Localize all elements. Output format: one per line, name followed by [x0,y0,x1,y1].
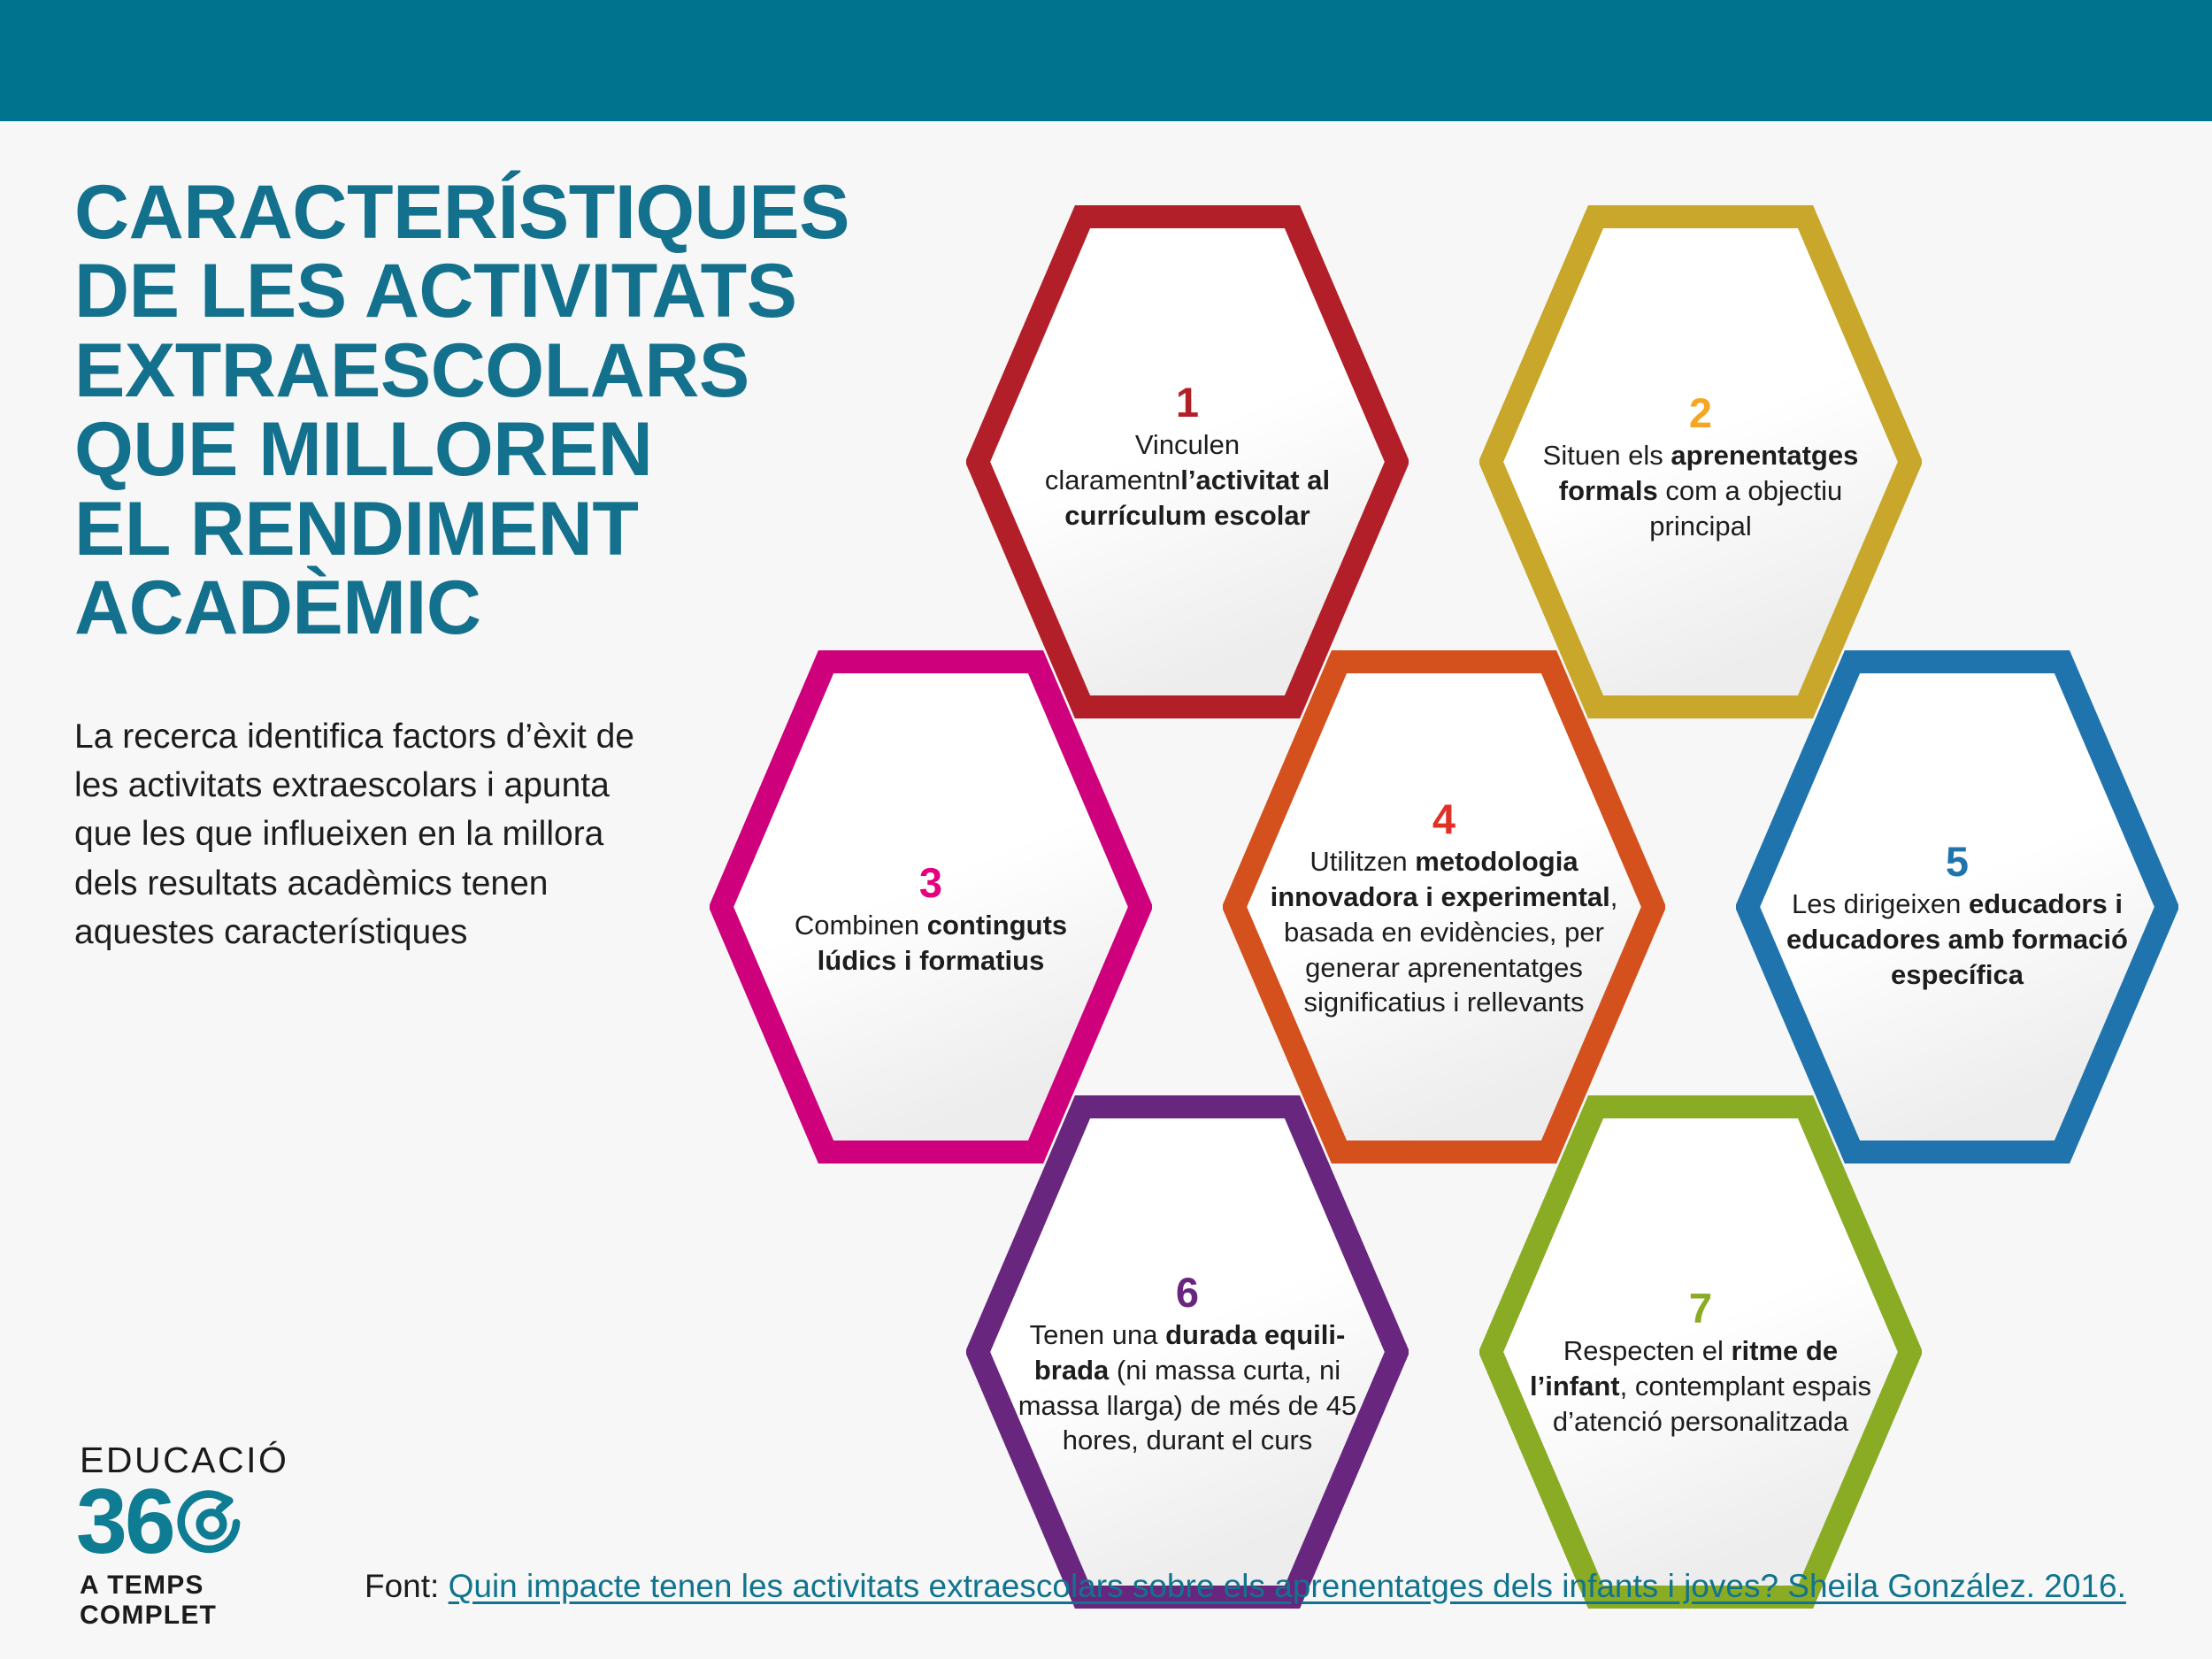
hexagon-card-1[interactable]: 1Vinculen claramentnl’activitat al currí… [966,205,1409,718]
hexagon-content-4: 4Utilitzen metodologia innovadora i expe… [1223,652,1665,1165]
hexagon-card-3[interactable]: 3Combinen continguts lúdics i formatius [710,650,1152,1164]
hexagon-number-5: 5 [1946,840,1969,883]
hexagon-card-2[interactable]: 2Situen els aprenentatges formals com a … [1479,205,1922,718]
hexagon-content-1: 1Vinculen claramentnl’activitat al currí… [966,200,1409,713]
hexagon-content-2: 2Situen els aprenentatges formals com a … [1479,211,1922,724]
logo-tagline: A TEMPS COMPLET [76,1571,333,1631]
hexagon-description-2: Situen els aprenentatges formals com a o… [1527,438,1874,543]
hexagon-description-1: Vinculen claramentnl’activitat al curríc… [1025,427,1350,533]
hexagon-description-7: Respecten el ritme de l’infant, contempl… [1529,1333,1872,1439]
logo-360: 36 [76,1480,333,1565]
hexagon-content-6: 6Tenen una durada equili-brada (ni massa… [966,1108,1409,1621]
logo-target-icon [177,1488,246,1557]
hexagon-number-3: 3 [919,861,942,904]
source-label: Font: [365,1568,439,1604]
hexagon-number-6: 6 [1176,1271,1199,1314]
hexagon-number-4: 4 [1432,797,1455,841]
hexagon-card-4[interactable]: 4Utilitzen metodologia innovadora i expe… [1223,650,1665,1164]
hexagon-number-1: 1 [1176,380,1199,424]
hexagon-card-7[interactable]: 7Respecten el ritme de l’infant, contemp… [1479,1095,1922,1609]
hexagon-card-5[interactable]: 5Les dirigeixen educadors i educadores a… [1736,650,2178,1164]
logo-36-text: 36 [76,1481,173,1564]
source-footer: Font: Quin impacte tenen les activitats … [365,1568,2126,1605]
hexagon-number-7: 7 [1689,1286,1712,1330]
hexagon-card-6[interactable]: 6Tenen una durada equili-brada (ni massa… [966,1095,1409,1609]
logo: EDUCACIÓ 36 A TEMPS COMPLET [76,1442,333,1619]
source-link[interactable]: Quin impacte tenen les activitats extrae… [449,1568,2126,1604]
hexagon-description-5: Les dirigeixen educadors i educadores am… [1780,887,2134,992]
hexagon-description-6: Tenen una durada equili-brada (ni massa … [1005,1317,1370,1458]
hexagon-description-3: Combinen continguts lúdics i formatius [759,908,1102,978]
hexagon-number-2: 2 [1689,391,1712,434]
hexagon-description-4: Utilitzen metodologia innovadora i exper… [1262,844,1626,1019]
hexagon-grid: 1Vinculen claramentnl’activitat al currí… [0,0,2212,1659]
hexagon-content-7: 7Respecten el ritme de l’infant, contemp… [1479,1106,1922,1619]
